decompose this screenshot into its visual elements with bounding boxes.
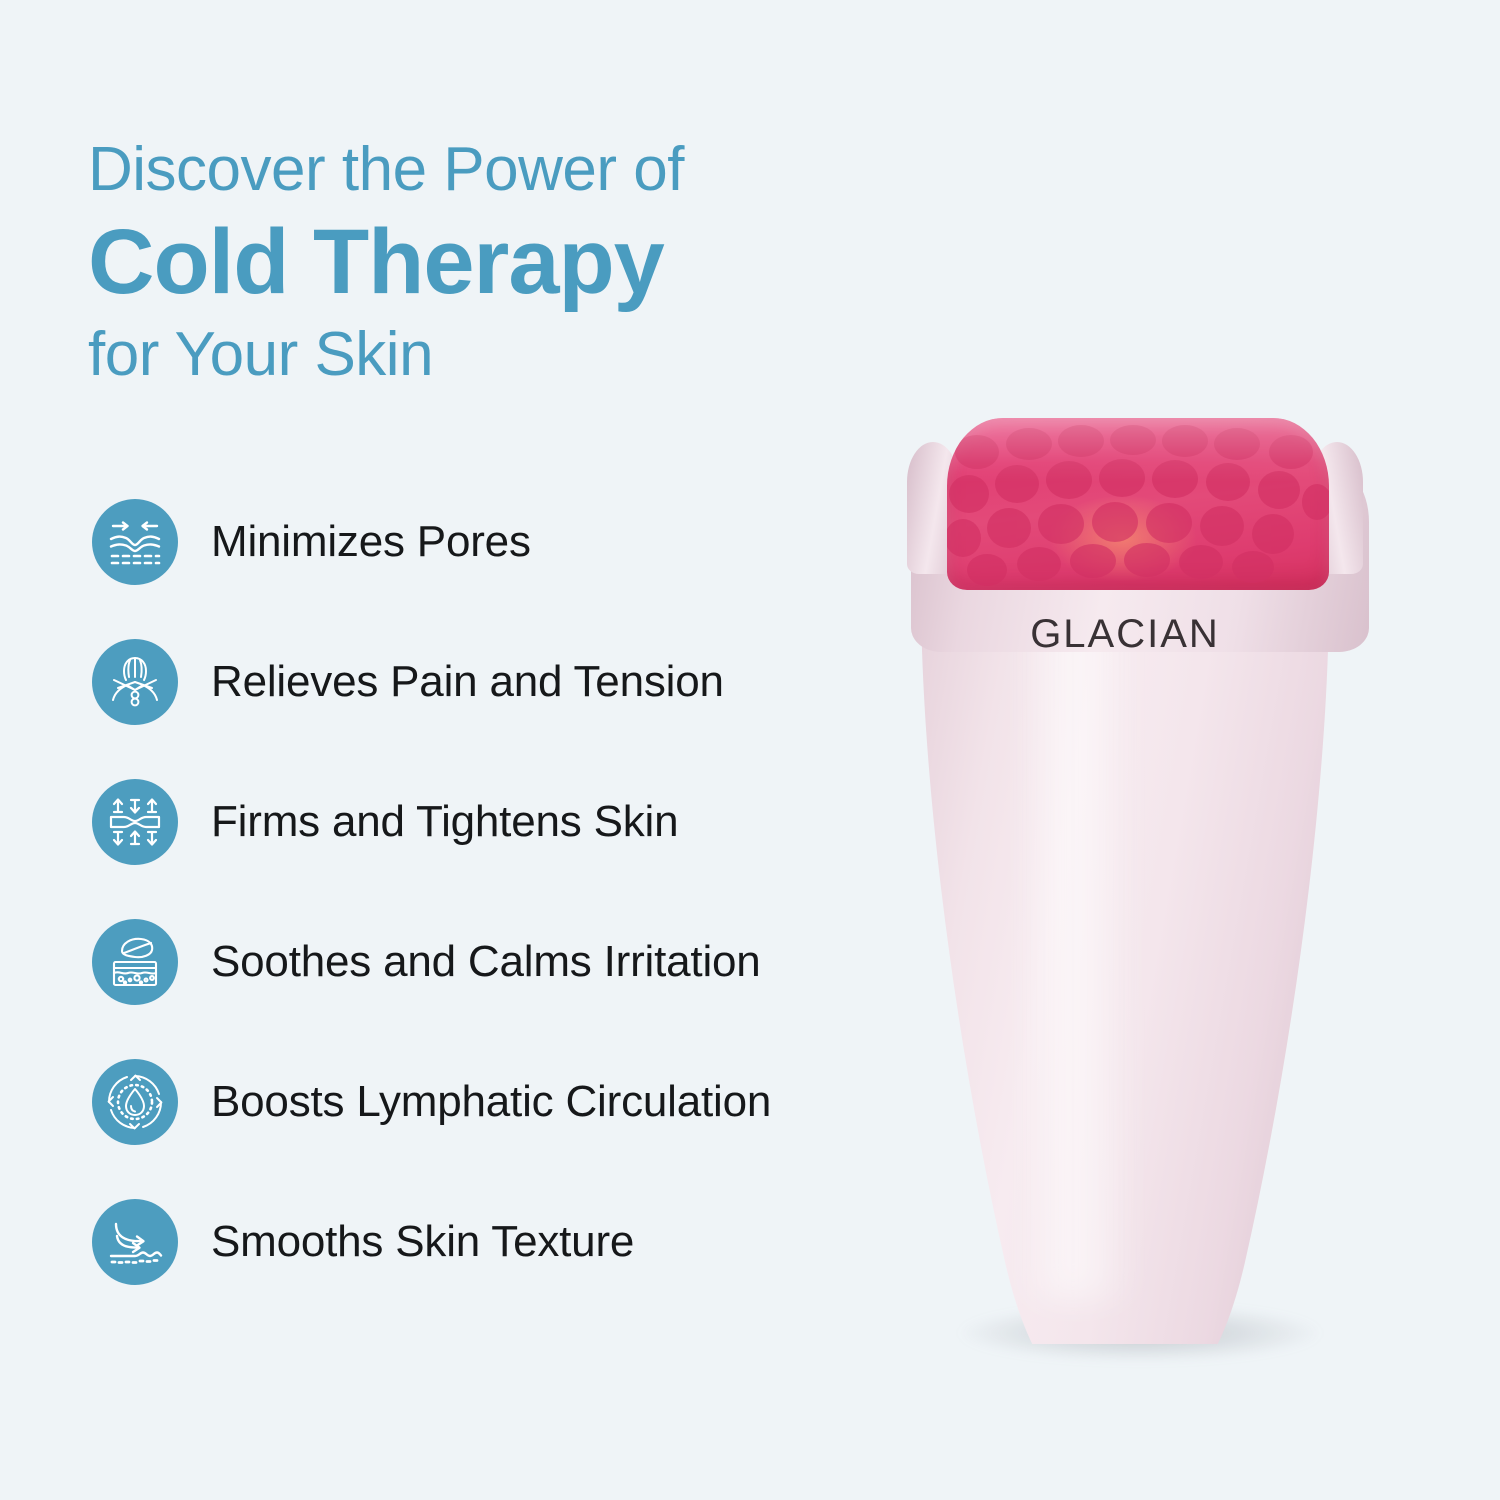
list-item: Firms and Tightens Skin [92,778,952,866]
list-item-label: Smooths Skin Texture [211,1217,634,1267]
headline-line-1: Discover the Power of [88,132,968,208]
list-item: Boosts Lymphatic Circulation [92,1058,952,1146]
list-item: Relieves Pain and Tension [92,638,952,726]
list-item: Minimizes Pores [92,498,952,586]
list-item-label: Firms and Tightens Skin [211,797,678,847]
headline-line-2: Cold Therapy [88,208,968,316]
lymphatic-circulation-droplet-icon [92,1059,178,1145]
list-item: Soothes and Calms Irritation [92,918,952,1006]
benefit-list: Minimizes Pores Re [92,498,952,1286]
list-item-label: Minimizes Pores [211,517,531,567]
brand-logo-text: GLACIAN [905,612,1345,657]
product-image-ice-roller: GLACIAN [905,400,1375,1400]
list-item-label: Relieves Pain and Tension [211,657,724,707]
leaf-soothing-skin-icon [92,919,178,1005]
smooth-skin-texture-icon [92,1199,178,1285]
list-item-label: Soothes and Calms Irritation [211,937,761,987]
headline-line-3: for Your Skin [88,316,968,394]
skin-firming-arrows-icon [92,779,178,865]
list-item-label: Boosts Lymphatic Circulation [211,1077,771,1127]
ice-roller-head [947,418,1329,590]
list-item: Smooths Skin Texture [92,1198,952,1286]
roller-dimple-pattern [947,418,1329,590]
neck-tension-relief-icon [92,639,178,725]
page-title: Discover the Power of Cold Therapy for Y… [88,132,968,394]
pore-minimize-icon [92,499,178,585]
